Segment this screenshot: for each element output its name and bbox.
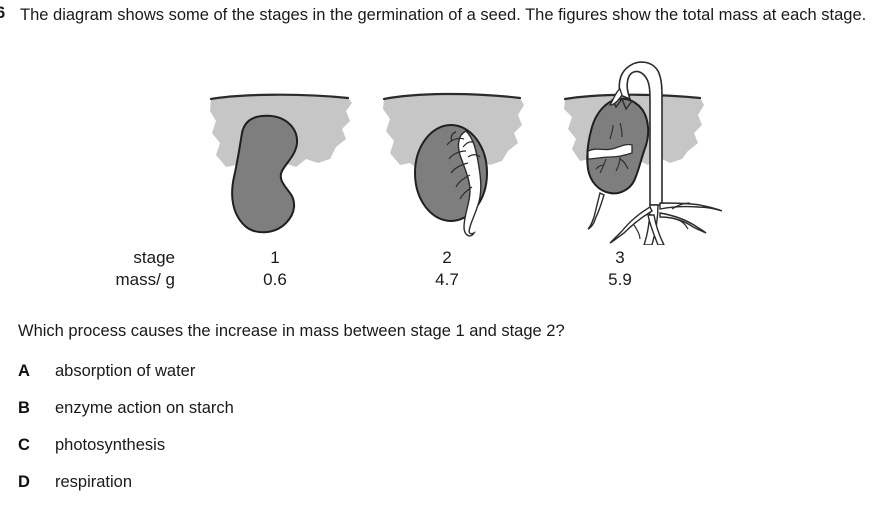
option-a-letter: A: [18, 362, 30, 381]
stage-value-1: 1: [240, 248, 310, 268]
stage-3-illustration: [564, 62, 722, 245]
question-number: 6: [0, 4, 16, 23]
stage-value-2: 2: [412, 248, 482, 268]
option-b-letter: B: [18, 399, 30, 418]
germination-diagram: [0, 55, 892, 245]
table-row-stage: stage 1 2 3: [0, 248, 892, 270]
row-label-mass: mass/ g: [55, 270, 175, 290]
option-d[interactable]: D respiration: [0, 473, 892, 497]
stage-1-illustration: [210, 95, 352, 233]
mass-value-1: 0.6: [240, 270, 310, 290]
option-c-label: photosynthesis: [55, 436, 165, 455]
mass-value-3: 5.9: [585, 270, 655, 290]
stage-mass-table: stage 1 2 3 mass/ g 0.6 4.7 5.9: [0, 248, 892, 294]
option-a[interactable]: A absorption of water: [0, 362, 892, 386]
mass-value-2: 4.7: [412, 270, 482, 290]
stage-value-3: 3: [585, 248, 655, 268]
option-b-label: enzyme action on starch: [55, 399, 234, 418]
seed-shape-stage-1: [232, 116, 297, 232]
option-c-letter: C: [18, 436, 30, 455]
option-c[interactable]: C photosynthesis: [0, 436, 892, 460]
question-stem: The diagram shows some of the stages in …: [20, 4, 892, 27]
option-a-label: absorption of water: [55, 362, 195, 381]
row-label-stage: stage: [55, 248, 175, 268]
sub-question-text: Which process causes the increase in mas…: [18, 322, 565, 341]
option-b[interactable]: B enzyme action on starch: [0, 399, 892, 423]
stage-2-illustration: [383, 94, 524, 236]
option-d-label: respiration: [55, 473, 132, 492]
table-row-mass: mass/ g 0.6 4.7 5.9: [0, 270, 892, 292]
option-d-letter: D: [18, 473, 30, 492]
